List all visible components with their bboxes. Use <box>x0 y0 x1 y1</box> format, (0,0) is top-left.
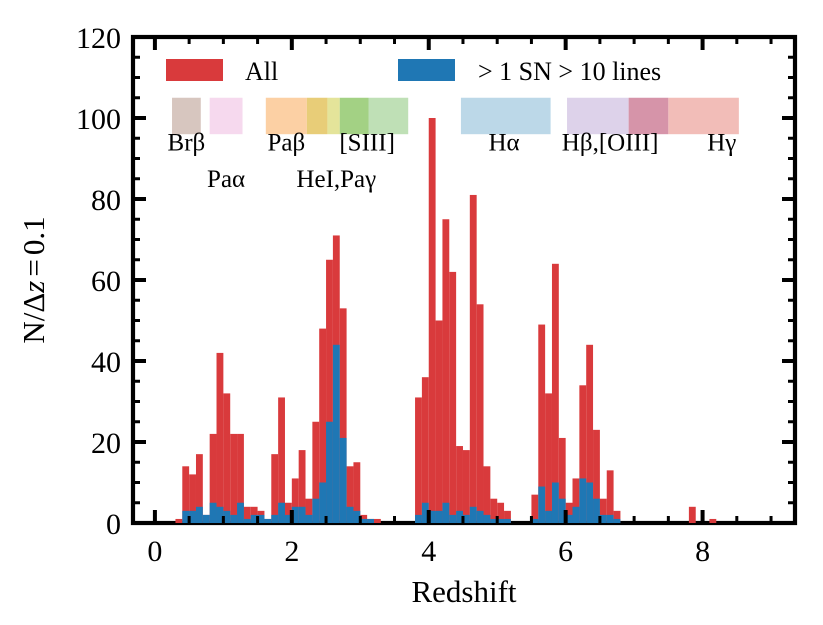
histogram-bar <box>299 507 306 523</box>
histogram-bar <box>449 515 456 523</box>
plot-legend: All> 1 SN > 10 lines <box>166 57 661 86</box>
histogram-bar <box>203 515 210 523</box>
emission-band <box>327 98 339 134</box>
histogram-bar <box>230 434 237 523</box>
histogram-bar <box>175 519 182 523</box>
histogram-bar <box>586 483 593 524</box>
histogram-bar <box>614 519 621 523</box>
histogram-figure: 02468 020406080100120 BrβPaαPaβHeI,Paγ[S… <box>0 0 823 625</box>
histogram-bar <box>449 272 456 523</box>
histogram-bar <box>264 519 271 523</box>
x-tick-label: 0 <box>147 535 162 568</box>
y-axis-title-equals: = <box>16 259 51 276</box>
histogram-bar <box>442 219 449 523</box>
histogram-bar <box>374 519 381 523</box>
band-label: Hα <box>488 129 519 156</box>
histogram-bar <box>477 304 484 523</box>
histogram-bar <box>504 519 511 523</box>
histogram-bar <box>210 503 217 523</box>
band-label: Paβ <box>267 129 305 156</box>
emission-band <box>307 98 328 134</box>
histogram-bar <box>484 466 491 523</box>
y-axis-title: N/Δz=0.1 <box>16 216 51 343</box>
histogram-bar <box>470 507 477 523</box>
histogram-bar <box>422 377 429 523</box>
legend-label: > 1 SN > 10 lines <box>478 57 661 86</box>
legend-swatch <box>398 59 455 81</box>
histogram-bar <box>552 483 559 524</box>
band-label: HeI,Paγ <box>296 166 376 193</box>
y-tick-label: 80 <box>91 184 121 217</box>
x-axis-title: Redshift <box>411 574 516 609</box>
histogram-bar <box>278 503 285 523</box>
histogram-bar <box>415 397 422 523</box>
x-tick-label: 6 <box>558 535 573 568</box>
histogram-bar <box>579 478 586 523</box>
redshift-histogram-plot: 02468 020406080100120 BrβPaαPaβHeI,Paγ[S… <box>0 0 823 625</box>
legend-swatch <box>166 59 223 81</box>
histogram-bar <box>573 507 580 523</box>
histogram-bar <box>429 118 436 523</box>
band-label: Brβ <box>168 129 206 156</box>
histogram-bar <box>709 519 716 523</box>
histogram-bar <box>545 511 552 523</box>
band-label: Paα <box>207 166 245 193</box>
histogram-bar <box>271 515 278 523</box>
histogram-bar <box>312 499 319 523</box>
histogram-bar <box>415 515 422 523</box>
y-axis-title-prefix: N/ <box>16 312 51 343</box>
y-axis-title-z: z <box>16 281 51 294</box>
histogram-bar <box>442 503 449 523</box>
legend-label: All <box>245 57 278 86</box>
y-tick-label: 20 <box>91 427 121 460</box>
histogram-bar <box>237 503 244 523</box>
x-tick-labels: 02468 <box>147 535 710 568</box>
histogram-bar <box>244 519 251 523</box>
histogram-bar <box>333 345 340 523</box>
y-tick-label: 60 <box>91 265 121 298</box>
y-tick-label: 100 <box>76 103 121 136</box>
histogram-bar <box>538 487 545 523</box>
band-label: Hβ,[OIII] <box>562 129 659 156</box>
y-tick-labels: 020406080100120 <box>76 22 121 541</box>
histogram-bar <box>689 507 696 523</box>
x-tick-label: 4 <box>421 535 436 568</box>
histogram-bar <box>367 519 374 523</box>
histogram-bar <box>347 507 354 523</box>
histogram-bar <box>477 511 484 523</box>
band-label: Hγ <box>707 129 736 156</box>
y-axis-title-delta: Δ <box>16 293 51 313</box>
histogram-bar <box>223 393 230 523</box>
histogram-bar <box>271 454 278 523</box>
band-label: [SIII] <box>339 129 395 156</box>
x-tick-label: 2 <box>284 535 299 568</box>
histogram-bar <box>607 515 614 523</box>
histogram-bar <box>470 195 477 523</box>
svg-text:N/Δz=0.1: N/Δz=0.1 <box>16 216 51 343</box>
histogram-bar <box>306 515 313 523</box>
histogram-bar <box>340 438 347 523</box>
histogram-bar <box>217 353 224 523</box>
histogram-bar <box>326 422 333 523</box>
y-tick-label: 120 <box>76 22 121 55</box>
band-annotations: BrβPaαPaβHeI,Paγ[SIII]HαHβ,[OIII]Hγ <box>168 129 737 192</box>
histogram-bar <box>484 515 491 523</box>
histogram-bar <box>463 450 470 523</box>
histogram-bar <box>196 507 203 523</box>
bars-series-all <box>175 118 716 523</box>
emission-band <box>210 98 243 134</box>
histogram-bar <box>230 515 237 523</box>
y-tick-label: 0 <box>106 508 121 541</box>
y-axis-title-value: 0.1 <box>16 216 51 255</box>
y-tick-label: 40 <box>91 346 121 379</box>
histogram-bar <box>545 393 552 523</box>
histogram-bar <box>436 321 443 524</box>
histogram-bar <box>436 511 443 523</box>
x-tick-label: 8 <box>695 535 710 568</box>
